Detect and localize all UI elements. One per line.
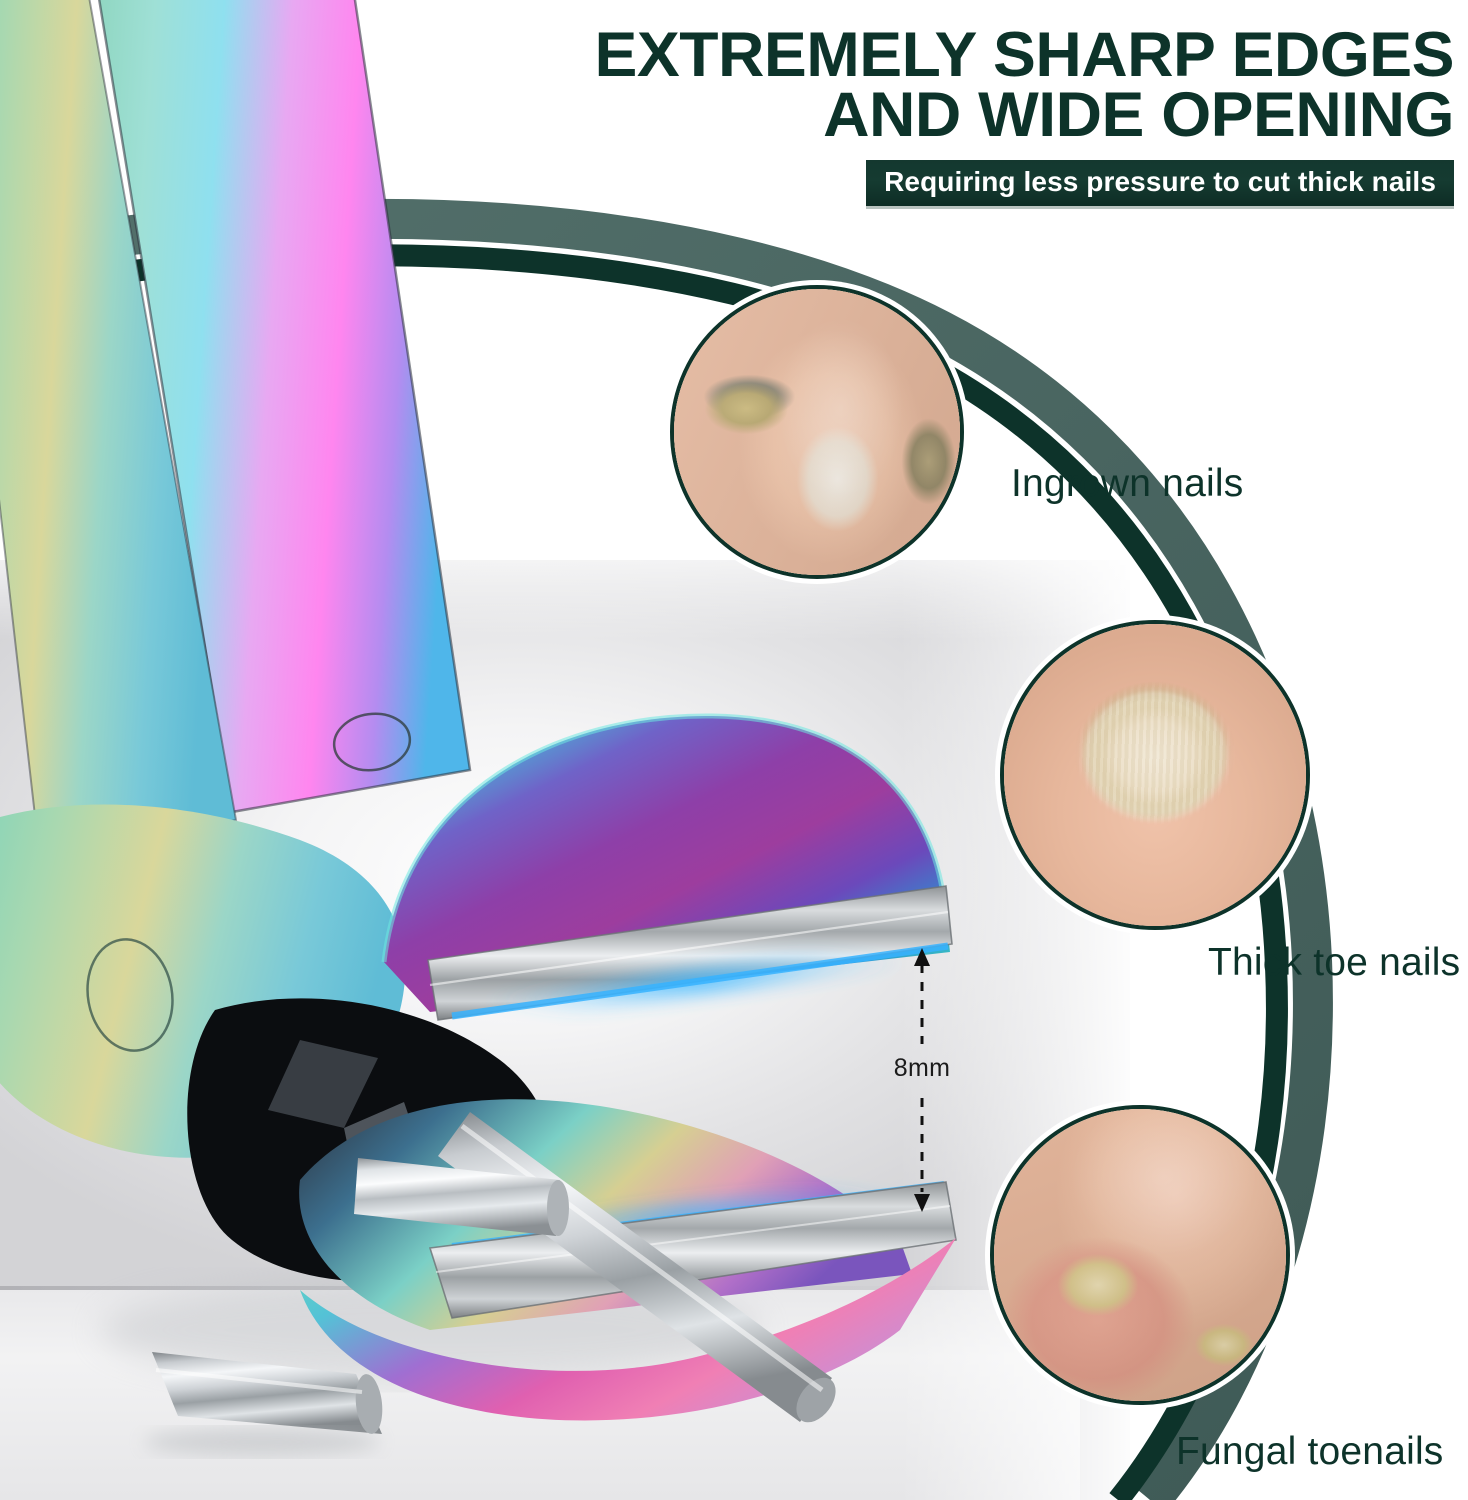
arrow-up-icon xyxy=(914,948,930,966)
subtitle-text: Requiring less pressure to cut thick nai… xyxy=(884,166,1436,197)
headline-block: EXTREMELY SHARP EDGES AND WIDE OPENING R… xyxy=(494,26,1454,209)
headline-title: EXTREMELY SHARP EDGES AND WIDE OPENING xyxy=(475,26,1454,146)
photo-ingrown-nails xyxy=(670,285,964,579)
callout-label-fungal-toenails: Fungal toenails xyxy=(1176,1430,1444,1474)
arrow-down-icon xyxy=(914,1194,930,1212)
cut-rod-shadow xyxy=(144,1428,380,1456)
photo-thick-toe-nails xyxy=(1000,620,1310,930)
photo-fungal-toenails xyxy=(990,1105,1290,1405)
callout-photo-thick-toe-nails xyxy=(1000,620,1310,930)
subtitle-banner: Requiring less pressure to cut thick nai… xyxy=(866,160,1454,209)
rod-stub-end-cap xyxy=(547,1180,569,1236)
callout-label-ingrown-nails: Ingrown nails xyxy=(1011,462,1243,506)
callout-photo-fungal-toenails xyxy=(990,1105,1290,1405)
callout-label-thick-toe-nails: Thick toe nails xyxy=(1208,941,1460,985)
dimension-value-label: 8mm xyxy=(862,1054,982,1083)
dimension-annotation-8mm: 8mm xyxy=(862,940,982,1220)
headline-line-2: AND WIDE OPENING xyxy=(475,86,1454,146)
callout-photo-ingrown-nails xyxy=(670,285,964,579)
infographic-canvas: EXTREMELY SHARP EDGES AND WIDE OPENING R… xyxy=(0,0,1468,1500)
